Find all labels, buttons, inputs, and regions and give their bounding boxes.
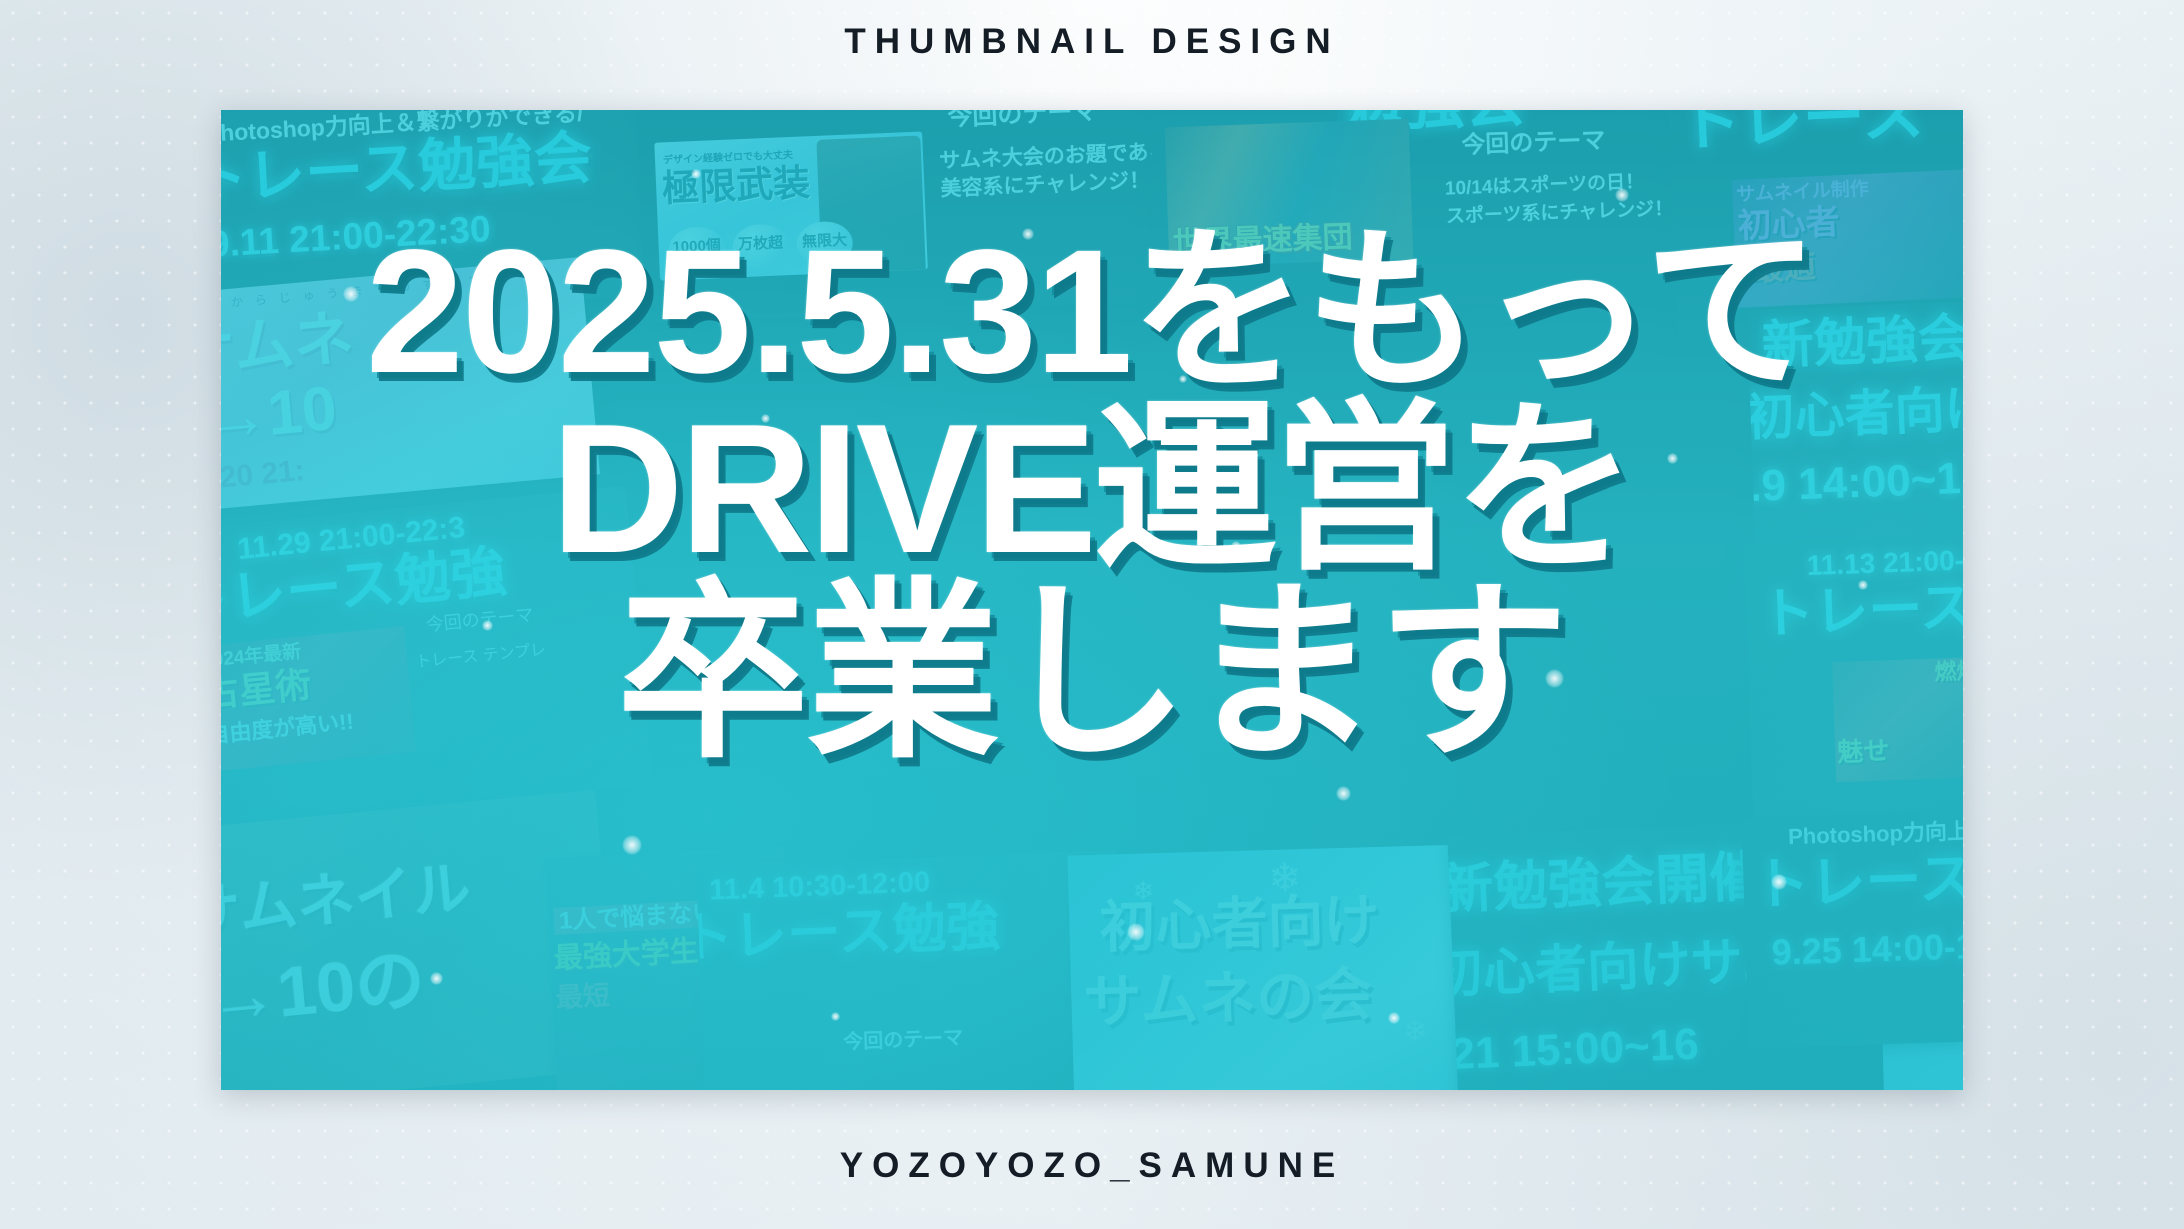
thumb-pink-samune-1to10: いちからじゅうまでのすべて サムネ 1→10 4/20 21: [221,257,600,513]
thumb-inner-image: 2024年最新 占星術 自由度が高い!! [221,626,416,772]
thumb-inner-line1: サムネイル制作 [1736,180,1869,206]
thumb-line1: 1人で悩まない [553,899,722,935]
thumb-inner-line2: 占星術 [221,666,313,714]
author-handle: YOZOYOZO_SAMUNE [0,1146,2184,1186]
thumb-date: 4/20 21: [221,455,306,496]
thumb-line2: 1→10の [221,943,428,1040]
thumb-line1: サムネ [221,306,356,385]
thumb-date: 9.25 14:00-15:30 [1771,925,1963,971]
thumb-inner-title: 極限武装 [661,164,810,209]
thumb-inner-title: 世界最速集団 [1172,221,1353,259]
thumb-header: トレース [1678,110,1926,157]
thumb-theme-label: 今回のテーマ [425,606,534,635]
thumb-trace-1104: 11.4 10:30-12:00 トレース勉強 今回のテーマ [696,850,1125,1090]
thumb-line2: 最強大学生 [553,937,699,975]
thumb-icy-beginner-samune: ❄ ❄ ❄ 初心者向け サムネの会 [1067,844,1474,1090]
thumb-line2: 1→10 [221,376,339,456]
thumb-line1: 新勉強会開 [1761,310,1963,375]
thumb-inner-image: デザイン経験ゼロでも大丈夫 極限武装 1000個 万枚超 無限大 [654,131,928,280]
thumb-line3: 最短 [555,981,610,1012]
thumb-new-study-group-right: 新勉強会開 初心者向けサム .9 14:00~1 [1747,290,1963,550]
thumb-tagline: Photoshop力向上＆繋がりができ [1788,815,1963,849]
thumb-theme-label: 今回のテーマ [1461,128,1606,158]
thumb-line1: 新勉強会開催 [1447,849,1764,919]
thumb-inner-line3: 自由度が高い!! [221,710,355,747]
thumb-inner-image: サムネイル制作 初心者 最適 [1732,169,1963,308]
thumbnail-artwork: Photoshop力向上＆繋がりができる/ トレース勉強会 9.11 21:00… [221,110,1963,1090]
thumb-inner-line3: 最適 [1751,250,1816,286]
snowflake-icon: ❄ [1402,1016,1428,1048]
thumb-line1: 初心者向け [1099,891,1381,958]
thumb-theme-body: トレース テンプレ [414,639,547,676]
thumb-date: .9 14:00~1 [1748,456,1961,510]
thumb-inner-line2: 初心者 [1737,205,1841,245]
thumb-badge: 万枚超 [732,223,790,269]
thumb-theme-label: 今回のテーマ [843,1028,964,1054]
page-title: THUMBNAIL DESIGN [0,22,2184,62]
thumb-title: トレース勉強会 [1759,574,1963,644]
thumb-beauty-challenge: デザイン経験ゼロでも大丈夫 極限武装 1000個 万枚超 無限大 今回のテーマ … [637,110,1186,323]
thumb-theme-label: 今回のテーマ [947,110,1098,131]
thumb-line1: サムネイル [221,858,473,946]
thumb-date: 11.13 21:00-22:30 [1806,543,1963,580]
thumb-inner-image: 燃焼 魅せ [1832,657,1963,782]
thumb-date: 21 15:00~16 [1449,1022,1699,1079]
thumb-line2: サムネの会 [1083,965,1373,1034]
thumb-photoshop-trace-0925: Photoshop力向上＆繋がりができ トレース勉強会 9.25 14:00-1… [1742,802,1963,1049]
thumb-trace-1129: 11.29 21:00-22:3 トレース勉強 2024年最新 占星術 自由度が… [221,486,655,830]
thumb-title: トレース勉強会 [1753,844,1963,915]
thumb-trace-1113: 11.13 21:00-22:30 トレース勉強会 燃焼 魅せ 今回のテーマ 1… [1744,525,1963,843]
thumb-date: 9.11 21:00-22:30 [221,210,492,265]
thumb-line2: 初心者向けサム [1747,379,1963,445]
thumb-title: トレース勉強 [696,899,1001,968]
thumb-badge: 1000個 [668,226,726,272]
thumb-sports-day-1014: 勉強会 世界最速集団 今回のテーマ 10/14はスポーツの日！ スポーツ系にチャ… [1149,110,1717,316]
thumb-inner-line3: 魅せ [1837,737,1890,766]
thumb-inner-image: 世界最速集団 [1165,119,1414,267]
thumb-inner-line1: 燃焼 [1934,659,1963,684]
